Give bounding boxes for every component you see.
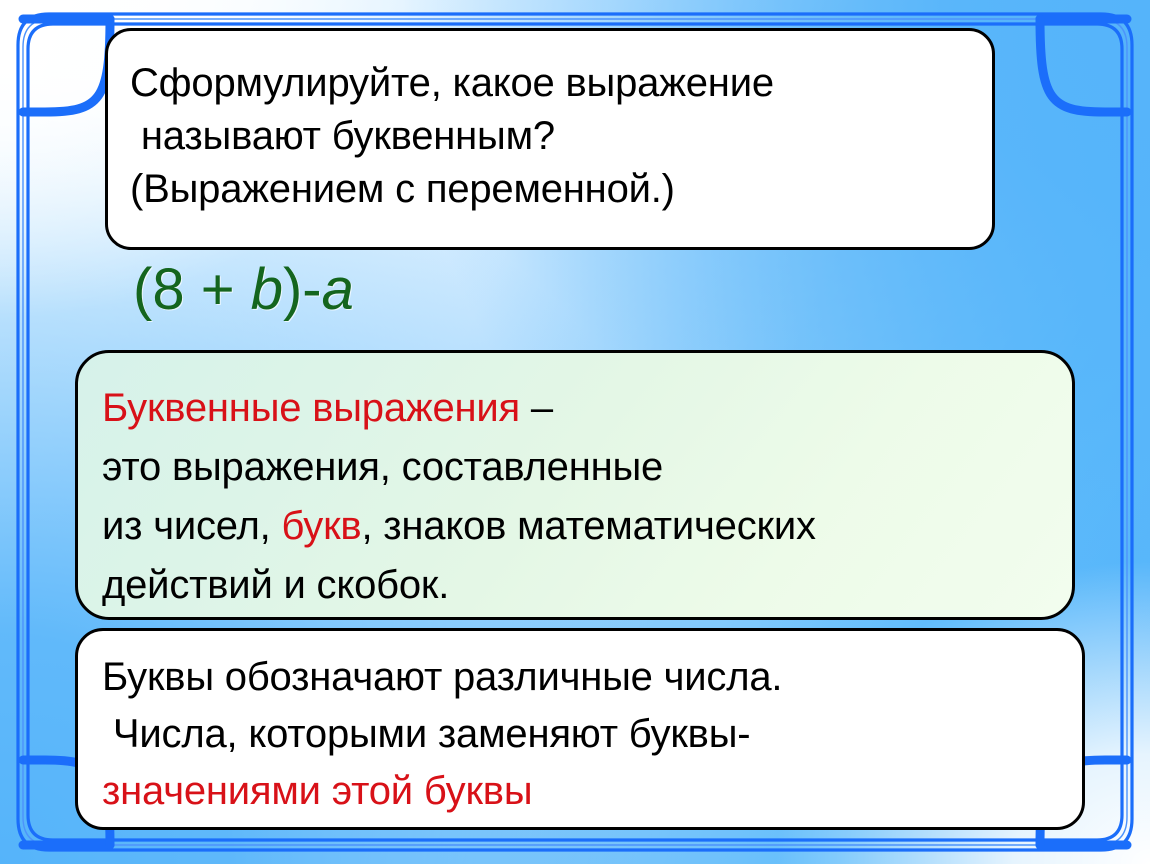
definition-dash: – (520, 386, 553, 430)
definition-line-3-prefix: из чисел, (102, 504, 281, 548)
explanation-text-box: Буквы обозначают различные числа. Числа,… (75, 628, 1085, 830)
question-text-box: Сформулируйте, какое выражение называют … (105, 28, 995, 250)
formula-minus-operator: - (302, 257, 321, 322)
explanation-line-2: Числа, которыми заменяют буквы- (102, 706, 1082, 763)
definition-text-box: Буквенные выражения – это выражения, сос… (75, 350, 1075, 620)
definition-term-highlight: Буквенные выражения (102, 386, 520, 430)
question-line-2: называют буквенным? (130, 110, 992, 163)
formula-variable-a: a (322, 257, 354, 322)
explanation-line-3-highlight: значениями этой буквы (102, 763, 1082, 820)
algebraic-expression: (8 + b)-a (133, 255, 354, 325)
formula-close-paren: ) (283, 257, 302, 322)
formula-variable-b: b (251, 257, 283, 322)
definition-line-3: из чисел, букв, знаков математических (102, 497, 1072, 556)
formula-number: 8 (152, 257, 184, 322)
formula-plus-operator: + (185, 257, 251, 322)
slide-canvas: Сформулируйте, какое выражение называют … (0, 0, 1150, 864)
definition-line-4: действий и скобок. (102, 556, 1072, 615)
definition-line-1: Буквенные выражения – (102, 379, 1072, 438)
explanation-line-1: Буквы обозначают различные числа. (102, 649, 1082, 706)
question-line-1: Сформулируйте, какое выражение (130, 57, 992, 110)
definition-letters-highlight: букв (281, 504, 361, 548)
definition-line-2: это выражения, составленные (102, 438, 1072, 497)
definition-line-3-suffix: , знаков математических (361, 504, 815, 548)
formula-open-paren: ( (133, 257, 152, 322)
question-line-3: (Выражением с переменной.) (130, 163, 992, 216)
